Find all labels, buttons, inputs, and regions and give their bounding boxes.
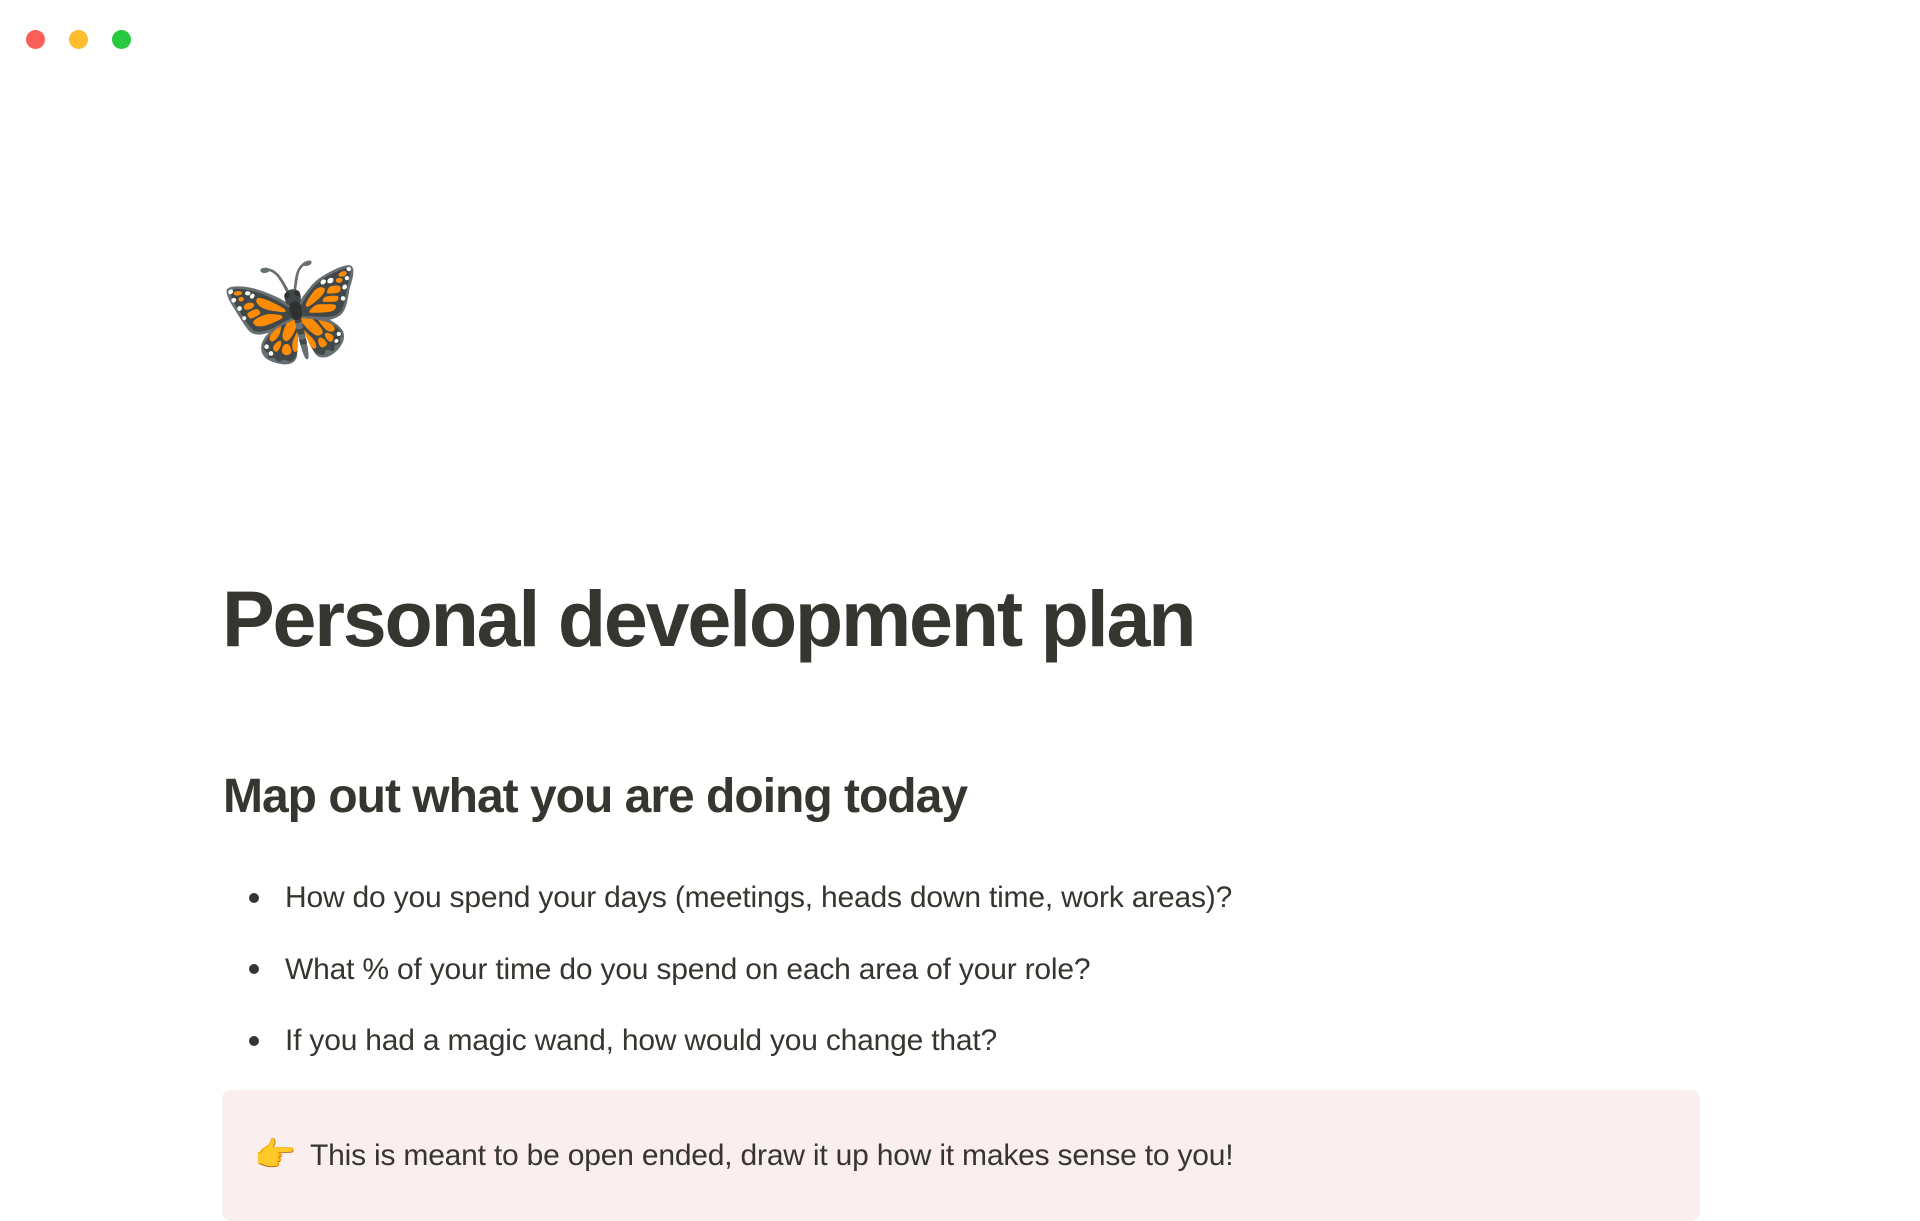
- list-item[interactable]: How do you spend your days (meetings, he…: [223, 876, 1703, 920]
- list-item-label: If you had a magic wand, how would you c…: [285, 1024, 997, 1057]
- butterfly-emoji[interactable]: 🦋: [218, 252, 362, 368]
- list-item-label: What % of your time do you spend on each…: [285, 953, 1090, 986]
- bullet-point-icon: [248, 948, 260, 992]
- document-page: 🦋 Personal development plan Map out what…: [0, 0, 1920, 1200]
- callout-block[interactable]: 👉 This is meant to be open ended, draw i…: [222, 1090, 1700, 1221]
- bullet-point-icon: [248, 1019, 260, 1063]
- page-title[interactable]: Personal development plan: [222, 576, 1194, 661]
- bullet-point-icon: [248, 876, 260, 920]
- list-item[interactable]: What % of your time do you spend on each…: [223, 948, 1703, 992]
- list-item-label: How do you spend your days (meetings, he…: [285, 881, 1232, 914]
- section-heading[interactable]: Map out what you are doing today: [223, 770, 967, 824]
- pointing-right-emoji: 👉: [254, 1134, 310, 1177]
- bullet-list: How do you spend your days (meetings, he…: [223, 876, 1703, 1091]
- list-item[interactable]: If you had a magic wand, how would you c…: [223, 1019, 1703, 1063]
- callout-text: This is meant to be open ended, draw it …: [310, 1134, 1233, 1177]
